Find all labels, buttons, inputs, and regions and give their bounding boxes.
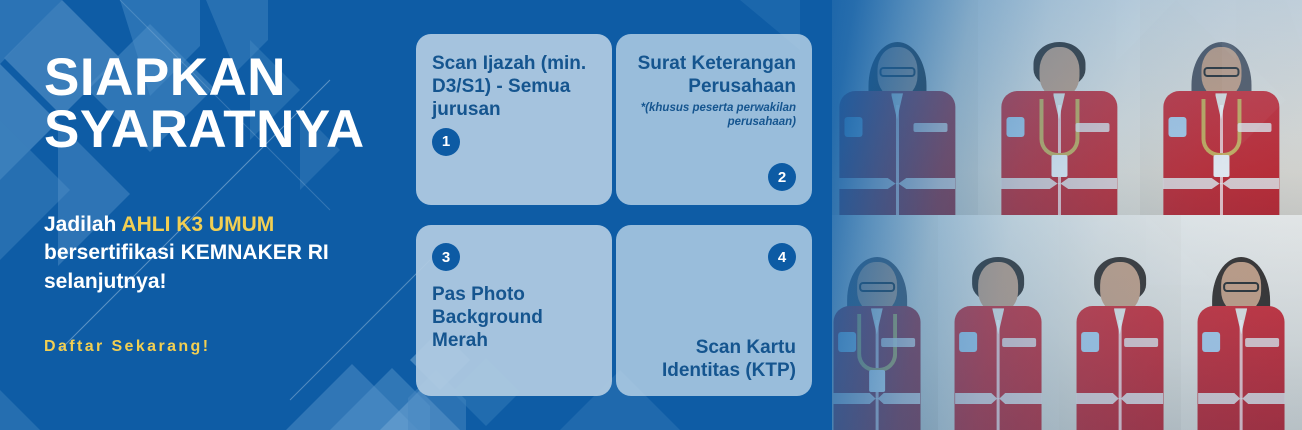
card-4-title: Scan Kartu Identitas (KTP) (632, 336, 796, 382)
photo-person-1 (816, 0, 978, 215)
photo-strip (816, 0, 1302, 430)
requirement-cards: Scan Ijazah (min. D3/S1) - Semua jurusan… (416, 34, 812, 396)
card-3-title: Pas Photo Background Merah (432, 283, 596, 353)
photo-person-2 (978, 0, 1140, 215)
photo-person-7 (1181, 215, 1302, 430)
requirement-card-2[interactable]: Surat Keterangan Perusahaan *(khusus pes… (616, 34, 812, 205)
subtitle-prefix: Jadilah (44, 213, 121, 236)
card-1-title: Scan Ijazah (min. D3/S1) - Semua jurusan (432, 52, 596, 122)
photo-person-3 (1140, 0, 1302, 215)
copy-block: SIAPKAN SYARATNYA Jadilah AHLI K3 UMUM b… (44, 52, 404, 356)
photo-row-bottom (816, 215, 1302, 430)
card-1-badge: 1 (432, 128, 460, 156)
photo-person-4 (816, 215, 938, 430)
photo-person-6 (1059, 215, 1181, 430)
requirement-card-4[interactable]: 4 Scan Kartu Identitas (KTP) (616, 225, 812, 396)
subtitle-rest: bersertifikasi KEMNAKER RI selanjutnya! (44, 241, 329, 293)
requirement-card-1[interactable]: Scan Ijazah (min. D3/S1) - Semua jurusan… (416, 34, 612, 205)
cta-text[interactable]: Daftar Sekarang! (44, 338, 404, 356)
page-title: SIAPKAN SYARATNYA (44, 52, 404, 157)
card-2-note: *(khusus peserta perwakilan perusahaan) (632, 102, 796, 130)
card-2-badge: 2 (768, 163, 796, 191)
promo-banner: SIAPKAN SYARATNYA Jadilah AHLI K3 UMUM b… (0, 0, 1302, 430)
card-3-badge: 3 (432, 243, 460, 271)
photo-row-top (816, 0, 1302, 215)
headline-line-2: SYARATNYA (44, 104, 404, 156)
photo-person-5 (938, 215, 1060, 430)
card-2-title: Surat Keterangan Perusahaan (632, 52, 796, 98)
subtitle-highlight: AHLI K3 UMUM (121, 213, 274, 236)
subtitle: Jadilah AHLI K3 UMUM bersertifikasi KEMN… (44, 211, 404, 297)
requirement-card-3[interactable]: 3 Pas Photo Background Merah (416, 225, 612, 396)
card-4-badge: 4 (768, 243, 796, 271)
headline-line-1: SIAPKAN (44, 52, 404, 104)
